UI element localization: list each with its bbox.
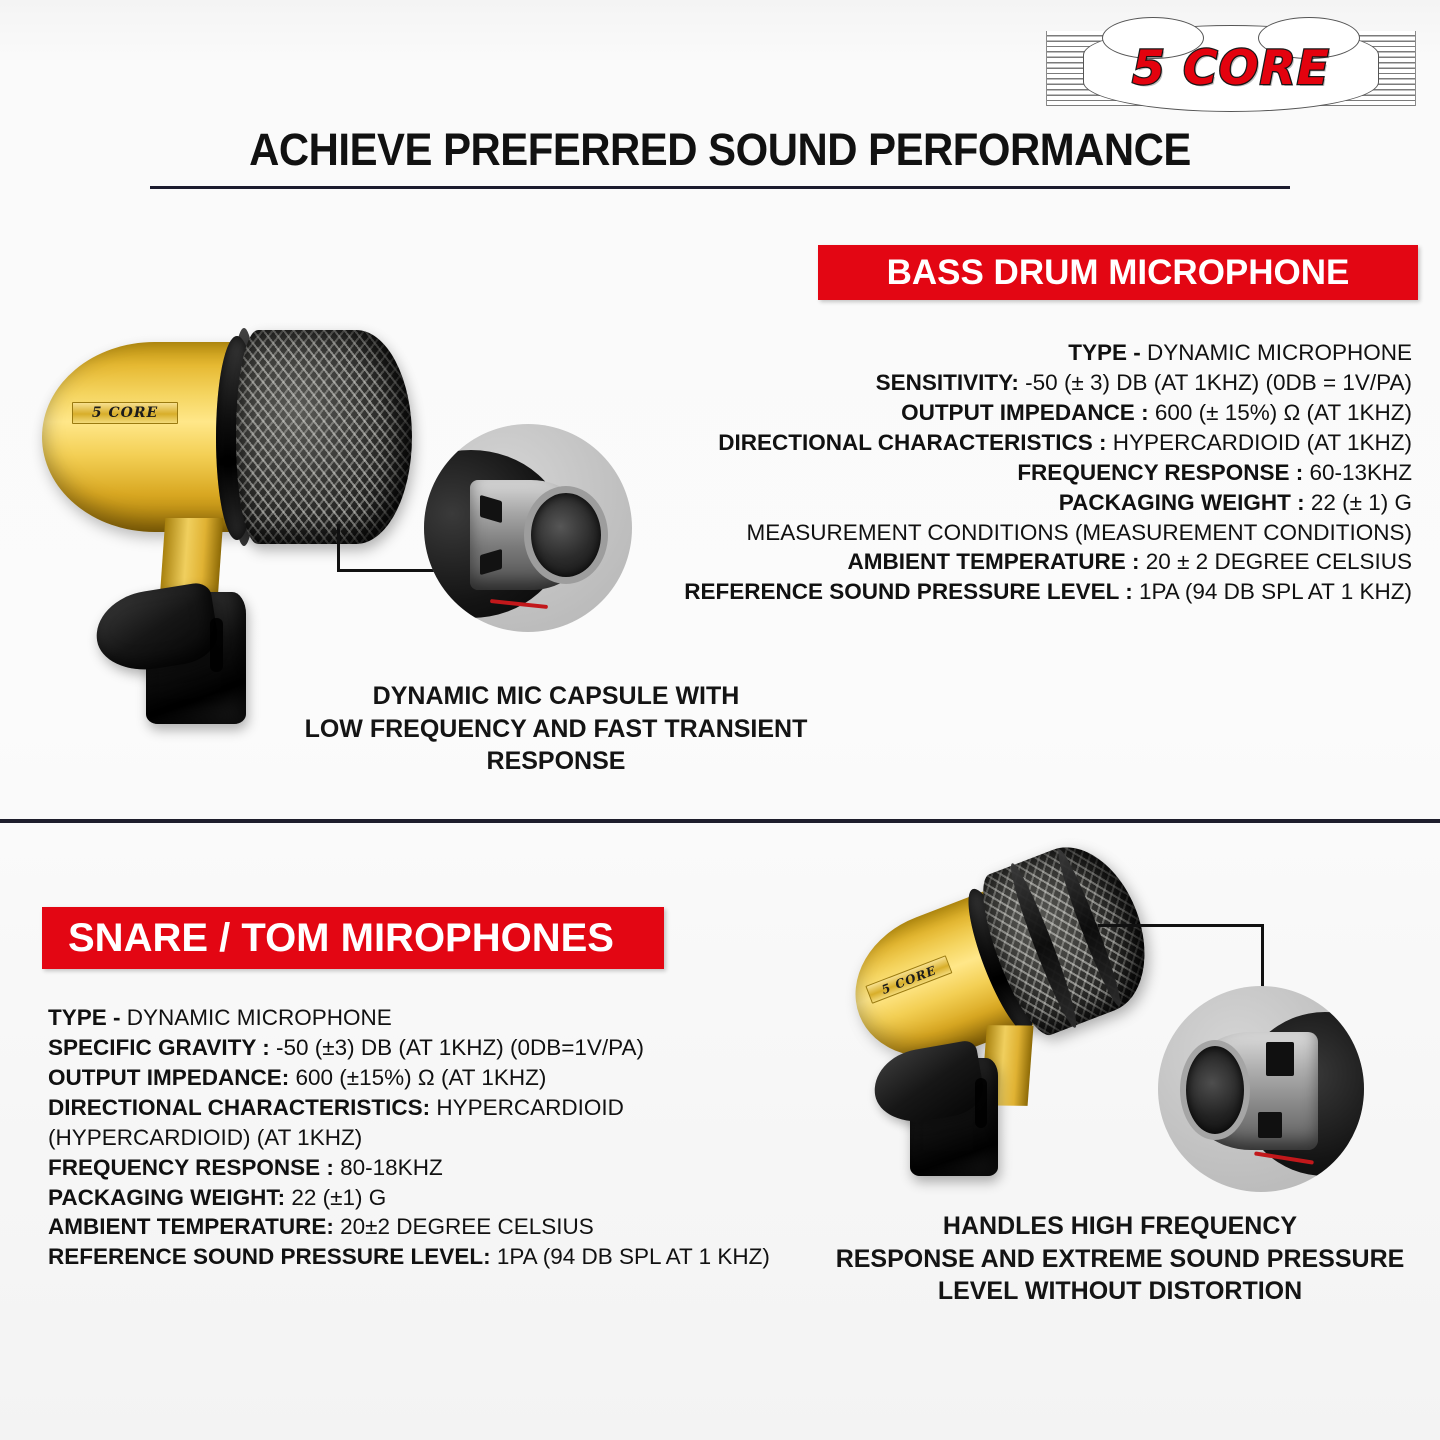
caption-line: LEVEL WITHOUT DISTORTION <box>938 1277 1302 1305</box>
title-divider <box>150 186 1290 189</box>
spec-row: REFERENCE SOUND PRESSURE LEVEL : 1PA (94… <box>642 577 1412 607</box>
mic-mount-assembly <box>880 1030 1020 1178</box>
spec-value: -50 (± 3) DB (AT 1KHZ) (0DB = 1V/PA) <box>1025 370 1412 395</box>
spec-key: TYPE - <box>48 1005 127 1030</box>
spec-key: PACKAGING WEIGHT: <box>48 1185 291 1210</box>
section-banner-snare-tom: SNARE / TOM MIROPHONES <box>42 907 664 969</box>
spec-value: MEASUREMENT CONDITIONS (MEASUREMENT COND… <box>747 520 1412 545</box>
spec-value: -50 (±3) DB (AT 1KHZ) (0DB=1V/PA) <box>276 1035 644 1060</box>
brand-logo: 5 CORE <box>1046 31 1416 106</box>
capsule-diaphragm-face <box>524 486 608 584</box>
spec-row: TYPE - DYNAMIC MICROPHONE <box>48 1003 808 1033</box>
spec-value: DYNAMIC MICROPHONE <box>1147 340 1412 365</box>
banner-label: SNARE / TOM MIROPHONES <box>68 916 614 961</box>
spec-key: FREQUENCY RESPONSE : <box>1017 460 1309 485</box>
spec-row: SPECIFIC GRAVITY : -50 (±3) DB (AT 1KHZ)… <box>48 1033 808 1063</box>
spec-key: REFERENCE SOUND PRESSURE LEVEL: <box>48 1244 497 1269</box>
spec-list-snare-tom: TYPE - DYNAMIC MICROPHONESPECIFIC GRAVIT… <box>48 1003 808 1272</box>
spec-row: FREQUENCY RESPONSE : 60-13KHZ <box>642 458 1412 488</box>
spec-key: AMBIENT TEMPERATURE: <box>48 1214 340 1239</box>
section-banner-bass-drum: BASS DRUM MICROPHONE <box>818 245 1418 300</box>
spec-key: SPECIFIC GRAVITY : <box>48 1035 276 1060</box>
spec-row: TYPE - DYNAMIC MICROPHONE <box>642 338 1412 368</box>
spec-row: SENSITIVITY: -50 (± 3) DB (AT 1KHZ) (0DB… <box>642 368 1412 398</box>
section-divider <box>0 819 1440 823</box>
mic-mesh-grille <box>236 330 412 544</box>
spec-row: DIRECTIONAL CHARACTERISTICS: HYPERCARDIO… <box>48 1093 808 1153</box>
spec-row: AMBIENT TEMPERATURE : 20 ± 2 DEGREE CELS… <box>642 547 1412 577</box>
caption-line: RESPONSE <box>487 747 626 775</box>
spec-value: 600 (±15%) Ω (AT 1KHZ) <box>296 1065 547 1090</box>
banner-label: BASS DRUM MICROPHONE <box>887 253 1350 293</box>
logo-text: 5 CORE <box>1046 31 1416 106</box>
spec-row: DIRECTIONAL CHARACTERISTICS : HYPERCARDI… <box>642 428 1412 458</box>
spec-row: FREQUENCY RESPONSE : 80-18KHZ <box>48 1153 808 1183</box>
spec-row: OUTPUT IMPEDANCE : 600 (± 15%) Ω (AT 1KH… <box>642 398 1412 428</box>
spec-value: HYPERCARDIOID (AT 1KHZ) <box>1113 430 1412 455</box>
callout-connector-vertical <box>337 524 340 572</box>
spec-row: REFERENCE SOUND PRESSURE LEVEL: 1PA (94 … <box>48 1242 808 1272</box>
mic-mount-slot <box>210 618 223 672</box>
callout-capsule-snare-tom <box>1158 986 1364 1192</box>
spec-row: PACKAGING WEIGHT : 22 (± 1) G <box>642 488 1412 518</box>
spec-value: 20 ± 2 DEGREE CELSIUS <box>1146 549 1412 574</box>
caption-line: HANDLES HIGH FREQUENCY <box>943 1212 1297 1240</box>
spec-row: OUTPUT IMPEDANCE: 600 (±15%) Ω (AT 1KHZ) <box>48 1063 808 1093</box>
page-title: ACHIEVE PREFERRED SOUND PERFORMANCE <box>50 124 1389 176</box>
caption-line: RESPONSE AND EXTREME SOUND PRESSURE <box>836 1245 1405 1273</box>
spec-value: 80-18KHZ <box>340 1155 443 1180</box>
spec-key: OUTPUT IMPEDANCE: <box>48 1065 296 1090</box>
spec-value: 60-13KHZ <box>1309 460 1412 485</box>
spec-list-bass-drum: TYPE - DYNAMIC MICROPHONESENSITIVITY: -5… <box>642 338 1412 607</box>
spec-value: 20±2 DEGREE CELSIUS <box>340 1214 594 1239</box>
spec-key: DIRECTIONAL CHARACTERISTICS: <box>48 1095 436 1120</box>
spec-value: 1PA (94 DB SPL AT 1 KHZ) <box>497 1244 770 1269</box>
spec-key: PACKAGING WEIGHT : <box>1059 490 1311 515</box>
mic-brand-badge: 5 CORE <box>72 402 178 424</box>
product-image-bass-drum-microphone: 5 CORE <box>28 318 448 758</box>
spec-row: AMBIENT TEMPERATURE: 20±2 DEGREE CELSIUS <box>48 1212 808 1242</box>
spec-row: MEASUREMENT CONDITIONS (MEASUREMENT COND… <box>642 518 1412 548</box>
spec-key: OUTPUT IMPEDANCE : <box>901 400 1155 425</box>
spec-key: TYPE - <box>1068 340 1147 365</box>
capsule-vent <box>1266 1042 1294 1076</box>
spec-value: 22 (±1) G <box>291 1185 386 1210</box>
spec-value: 22 (± 1) G <box>1311 490 1412 515</box>
spec-value: 600 (± 15%) Ω (AT 1KHZ) <box>1155 400 1412 425</box>
callout-connector-horizontal <box>1098 924 1264 927</box>
infographic-page: 5 CORE ACHIEVE PREFERRED SOUND PERFORMAN… <box>0 0 1440 1440</box>
capsule-diaphragm-face <box>1180 1040 1250 1140</box>
spec-value: DYNAMIC MICROPHONE <box>127 1005 392 1030</box>
callout-connector-vertical <box>1261 924 1264 988</box>
spec-key: REFERENCE SOUND PRESSURE LEVEL : <box>684 579 1139 604</box>
spec-key: SENSITIVITY: <box>876 370 1026 395</box>
callout-capsule-bass-drum <box>424 424 632 632</box>
capsule-vent <box>1258 1112 1282 1138</box>
caption-snare-capsule: HANDLES HIGH FREQUENCYRESPONSE AND EXTRE… <box>826 1210 1414 1308</box>
mic-mount-slot <box>975 1078 987 1128</box>
spec-key: AMBIENT TEMPERATURE : <box>847 549 1145 574</box>
spec-value: 1PA (94 DB SPL AT 1 KHZ) <box>1139 579 1412 604</box>
spec-key: FREQUENCY RESPONSE : <box>48 1155 340 1180</box>
spec-key: DIRECTIONAL CHARACTERISTICS : <box>718 430 1113 455</box>
spec-row: PACKAGING WEIGHT: 22 (±1) G <box>48 1183 808 1213</box>
